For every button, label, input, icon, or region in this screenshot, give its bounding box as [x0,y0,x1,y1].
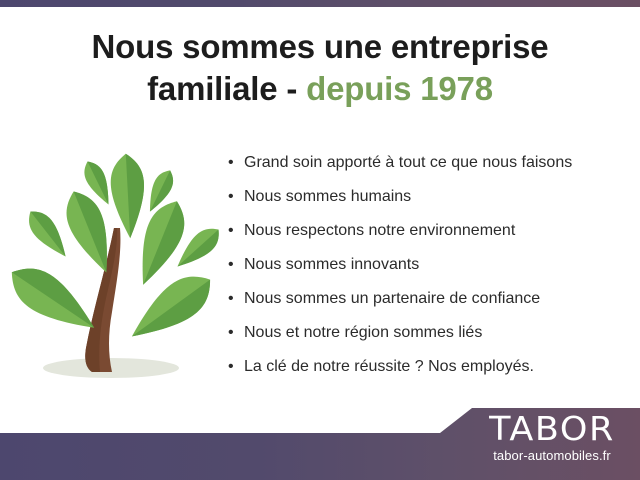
logo-tagline: tabor-automobiles.fr [472,448,632,464]
tabor-logo[interactable]: TABOR tabor-automobiles.fr [472,412,632,464]
values-bullet-list: • Grand soin apporté à tout ce que nous … [228,152,628,390]
list-item: • La clé de notre réussite ? Nos employé… [228,356,628,390]
list-item-label: La clé de notre réussite ? Nos employés. [244,356,534,378]
list-item: • Grand soin apporté à tout ce que nous … [228,152,628,186]
top-accent-strip [0,0,640,7]
list-item-label: Nous respectons notre environnement [244,220,515,242]
bullet-marker-icon: • [228,220,244,242]
slide-canvas: Nous sommes une entreprise familiale - d… [0,0,640,480]
list-item: • Nous et notre région sommes liés [228,322,628,356]
list-item: • Nous sommes humains [228,186,628,220]
bullet-marker-icon: • [228,322,244,344]
bullet-marker-icon: • [228,152,244,174]
bullet-marker-icon: • [228,288,244,310]
bullet-marker-icon: • [228,356,244,378]
list-item-label: Nous et notre région sommes liés [244,322,482,344]
title-accent-since-year: depuis 1978 [306,70,493,107]
list-item-label: Nous sommes innovants [244,254,419,276]
tree-leaf [22,205,75,264]
list-item-label: Nous sommes un partenaire de confiance [244,288,540,310]
bullet-marker-icon: • [228,186,244,208]
title-line-2-prefix: familiale - [147,70,297,107]
logo-wordmark: TABOR [467,412,637,446]
tree-leaf [121,264,221,351]
family-tree-illustration [8,148,223,393]
list-item-label: Nous sommes humains [244,186,411,208]
title-line-1: Nous sommes une entreprise [0,26,640,68]
list-item: • Nous sommes innovants [228,254,628,288]
bullet-marker-icon: • [228,254,244,276]
list-item-label: Grand soin apporté à tout ce que nous fa… [244,152,572,174]
tree-leaf [109,153,147,239]
page-title: Nous sommes une entreprise familiale - d… [0,26,640,110]
title-line-2: familiale - depuis 1978 [0,68,640,110]
list-item: • Nous respectons notre environnement [228,220,628,254]
list-item: • Nous sommes un partenaire de confiance [228,288,628,322]
